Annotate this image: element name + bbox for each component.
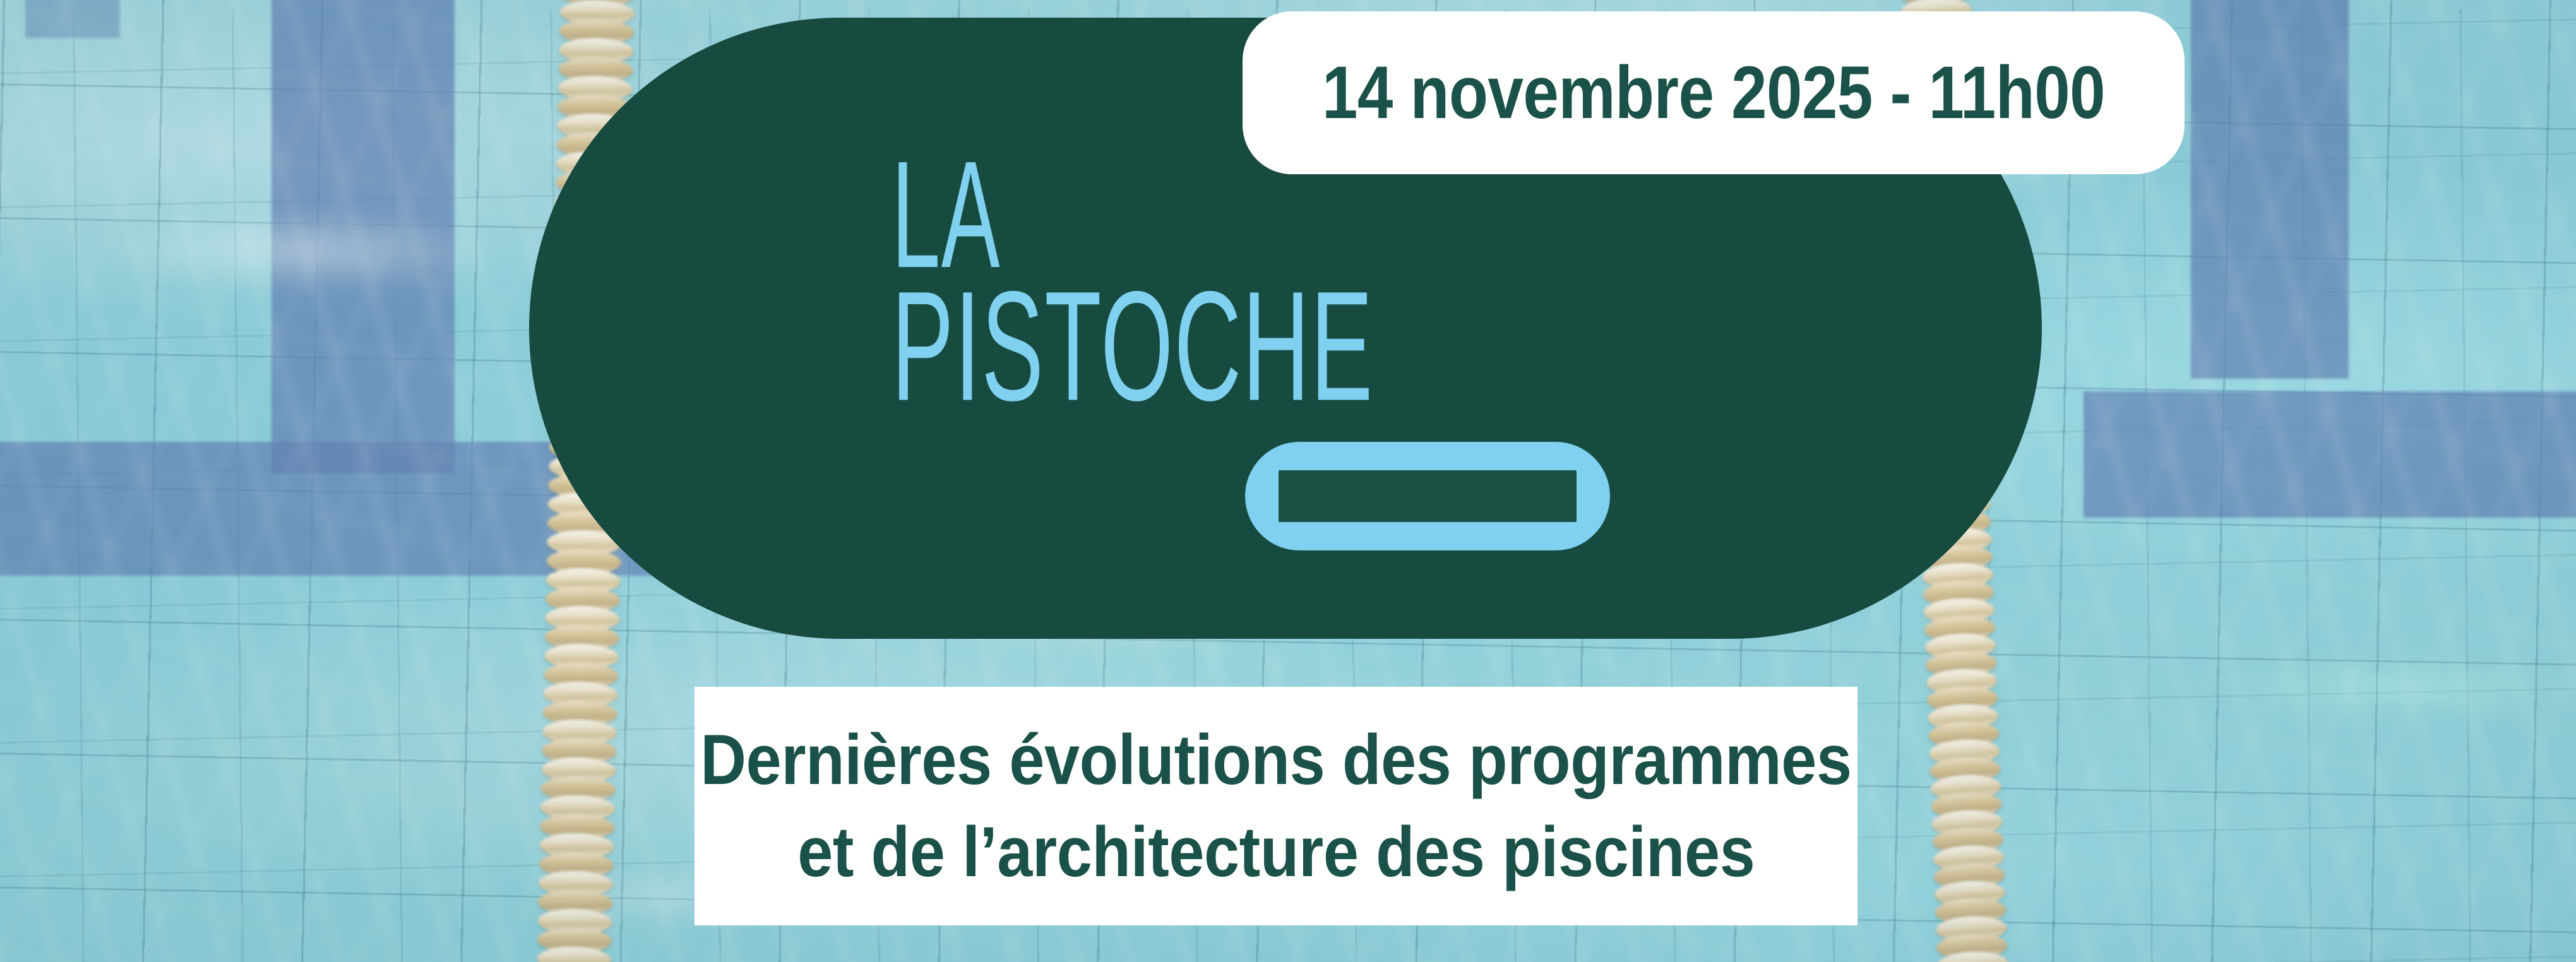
pool-pill-mark-icon — [1245, 442, 1610, 550]
pool-pill-mark-inner — [1279, 470, 1577, 522]
date-time-badge: 14 novembre 2025 - 11h00 — [1243, 11, 2185, 174]
logo-line-pistoche: PISTOCHE — [891, 281, 1357, 412]
date-time-label: 14 novembre 2025 - 11h00 — [1322, 56, 2105, 130]
subtitle-line-2: et de l’architecture des piscines — [797, 806, 1755, 898]
logo-wordmark: LA PISTOCHE — [891, 151, 1649, 408]
poster-banner: LA PISTOCHE 14 novembre 2025 - 11h00 Der… — [0, 0, 2576, 962]
subtitle-card: Dernières évolutions des programmes et d… — [695, 687, 1857, 925]
subtitle-line-1: Dernières évolutions des programmes — [700, 714, 1851, 806]
